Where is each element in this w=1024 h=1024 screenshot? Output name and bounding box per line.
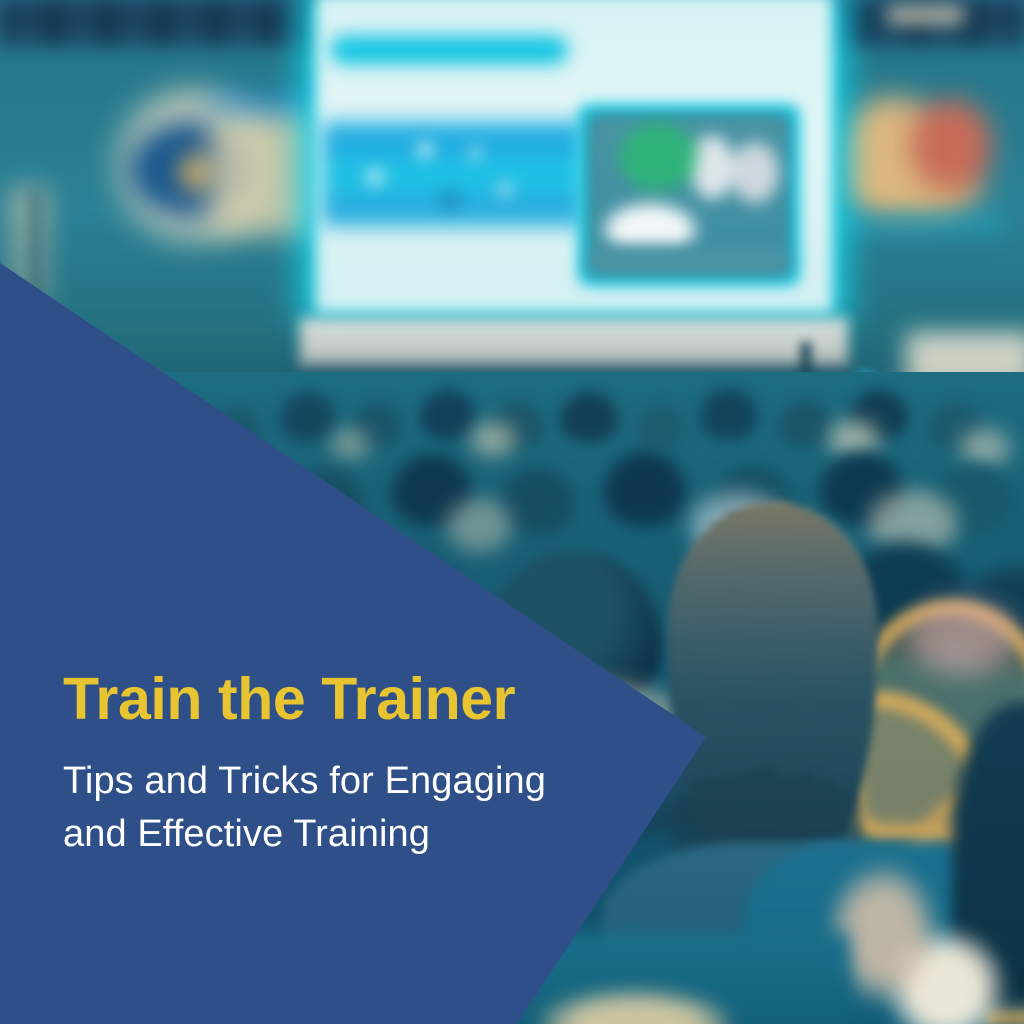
crowd-head — [778, 400, 832, 448]
crowd-highlight — [960, 428, 1010, 468]
poster-canvas: Train the Trainer Tips and Tricks for En… — [0, 0, 1024, 1024]
slide-heading-bar — [330, 36, 568, 64]
poster-text-block: Train the Trainer Tips and Tricks for En… — [63, 668, 623, 862]
crowd-highlight — [470, 422, 516, 456]
crowd-highlight — [330, 428, 370, 460]
crowd-head — [280, 392, 336, 442]
page-title: Train the Trainer — [63, 668, 623, 731]
right-wall-logo-caption — [886, 6, 966, 24]
slide-photo-panel — [592, 118, 786, 248]
poster-subtitle-line-2: and Effective Training — [63, 808, 623, 862]
slide-photo-caption-bar — [588, 248, 790, 274]
stage-stand-pole — [30, 190, 40, 300]
crowd-head — [560, 392, 618, 442]
right-wall-band — [824, 212, 1004, 234]
crowd-head — [420, 390, 476, 440]
poster-subtitle: Tips and Tricks for Engaging and Effecti… — [63, 755, 623, 863]
crowd-highlight — [902, 594, 1022, 680]
crowd-head — [636, 404, 686, 448]
valance-post — [800, 342, 812, 376]
crowd-head — [700, 388, 758, 440]
poster-subtitle-line-1: Tips and Tricks for Engaging — [63, 755, 623, 809]
screen-valance — [300, 318, 848, 370]
crowd-highlight — [446, 498, 512, 552]
slide-text-highlights — [330, 130, 580, 220]
